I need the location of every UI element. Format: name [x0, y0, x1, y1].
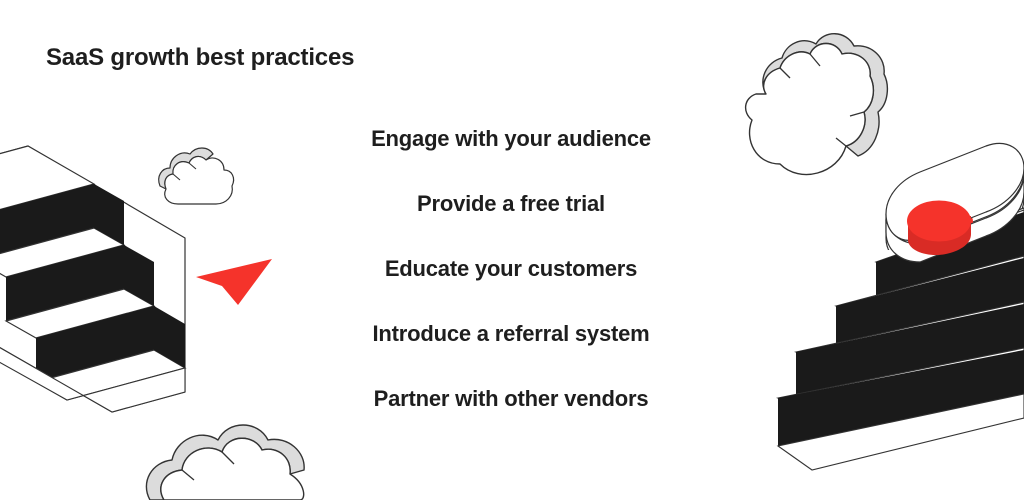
artwork-layer — [0, 0, 1024, 500]
list-item: Introduce a referral system — [261, 321, 761, 347]
red-cylinder-marker-icon — [907, 201, 973, 256]
illustration-canvas: SaaS growth best practices Engage with y… — [0, 0, 1024, 500]
cloud-small-left-icon — [159, 148, 234, 204]
isometric-staircase-left-icon — [0, 148, 200, 410]
cloud-large-right-icon — [746, 34, 888, 175]
rounded-podium-platform-icon — [886, 147, 1024, 268]
list-item: Partner with other vendors — [261, 386, 761, 412]
staircase-left — [0, 135, 220, 412]
staircase-right-final — [770, 210, 1024, 500]
podium-and-marker — [886, 143, 1024, 262]
right-staircase-clean — [770, 208, 1024, 500]
list-item: Provide a free trial — [261, 191, 761, 217]
list-item: Engage with your audience — [261, 126, 761, 152]
page-title: SaaS growth best practices — [46, 44, 354, 72]
staircase-right — [770, 147, 1024, 500]
right-staircase-treads — [782, 208, 1024, 452]
isometric-staircase-left-detail — [0, 140, 220, 400]
cloud-bottom-left-icon — [146, 425, 304, 500]
list-item: Educate your customers — [261, 256, 761, 282]
